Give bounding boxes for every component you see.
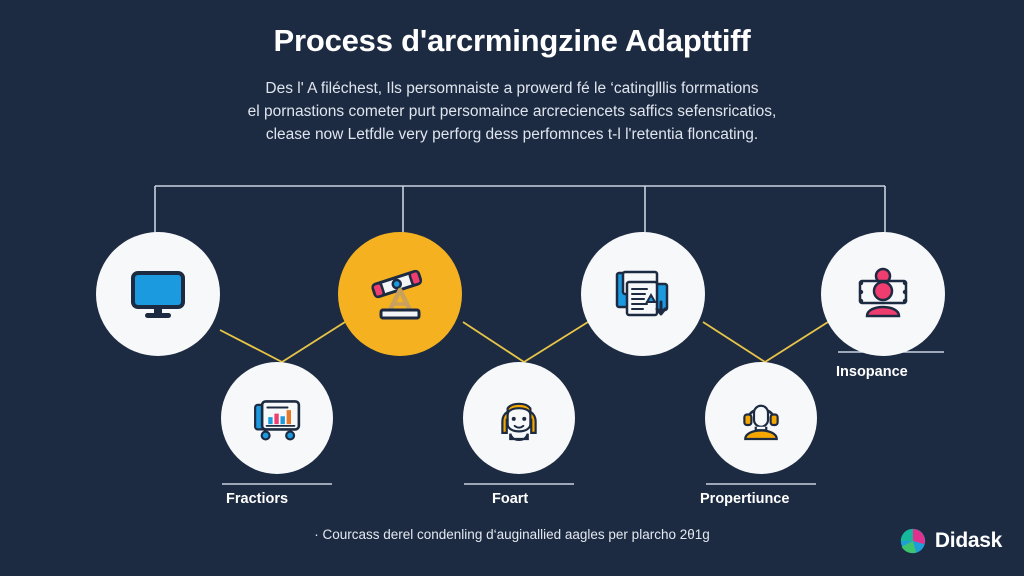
woman-face-icon: [491, 390, 547, 446]
node-label-fractiors: Fractiors: [226, 491, 288, 507]
chain-segment-2: [282, 322, 345, 362]
chart-board-icon: [249, 390, 305, 446]
footnote: · Courcass derel condenling d‘auginallie…: [0, 527, 1024, 542]
chain-segment-5: [703, 322, 765, 362]
chain-segment-4: [524, 322, 588, 362]
page-subtitle: Des l' A filéchest, Ils persomnaiste a p…: [0, 77, 1024, 146]
presenter-person-icon: [851, 262, 915, 326]
telescope-icon: [368, 262, 432, 326]
node-presenter-person[interactable]: [821, 232, 945, 356]
headset-agent-icon: [733, 390, 789, 446]
node-monitor[interactable]: [96, 232, 220, 356]
node-documents[interactable]: [581, 232, 705, 356]
brand-name: Didask: [935, 529, 1002, 553]
node-chart-board[interactable]: [221, 362, 333, 474]
monitor-icon: [126, 262, 190, 326]
chain-segment-3: [463, 322, 524, 362]
node-headset-agent[interactable]: [705, 362, 817, 474]
page-title: Process d'arcrmingzine Adapttiff: [0, 22, 1024, 61]
didask-logo-icon: [900, 528, 926, 554]
node-woman-face[interactable]: [463, 362, 575, 474]
node-label-foart: Foart: [492, 491, 528, 507]
node-telescope[interactable]: [338, 232, 462, 356]
documents-icon: [611, 262, 675, 326]
subtitle-line-1: Des l' A filéchest, Ils persomnaiste a p…: [0, 77, 1024, 100]
subtitle-line-3: clease now Letfdle very perforg dess per…: [0, 123, 1024, 146]
node-label-insopance: Insopance: [836, 364, 908, 380]
chain-segment-1: [220, 330, 282, 362]
header: Process d'arcrmingzine Adapttiff Des l' …: [0, 0, 1024, 146]
subtitle-line-2: el pornastions cometer purt persomaince …: [0, 100, 1024, 123]
brand-logo: Didask: [900, 528, 1002, 554]
infographic-canvas: Process d'arcrmingzine Adapttiff Des l' …: [0, 0, 1024, 576]
node-label-propertiunce: Propertiunce: [700, 491, 789, 507]
chain-segment-6: [765, 322, 828, 362]
